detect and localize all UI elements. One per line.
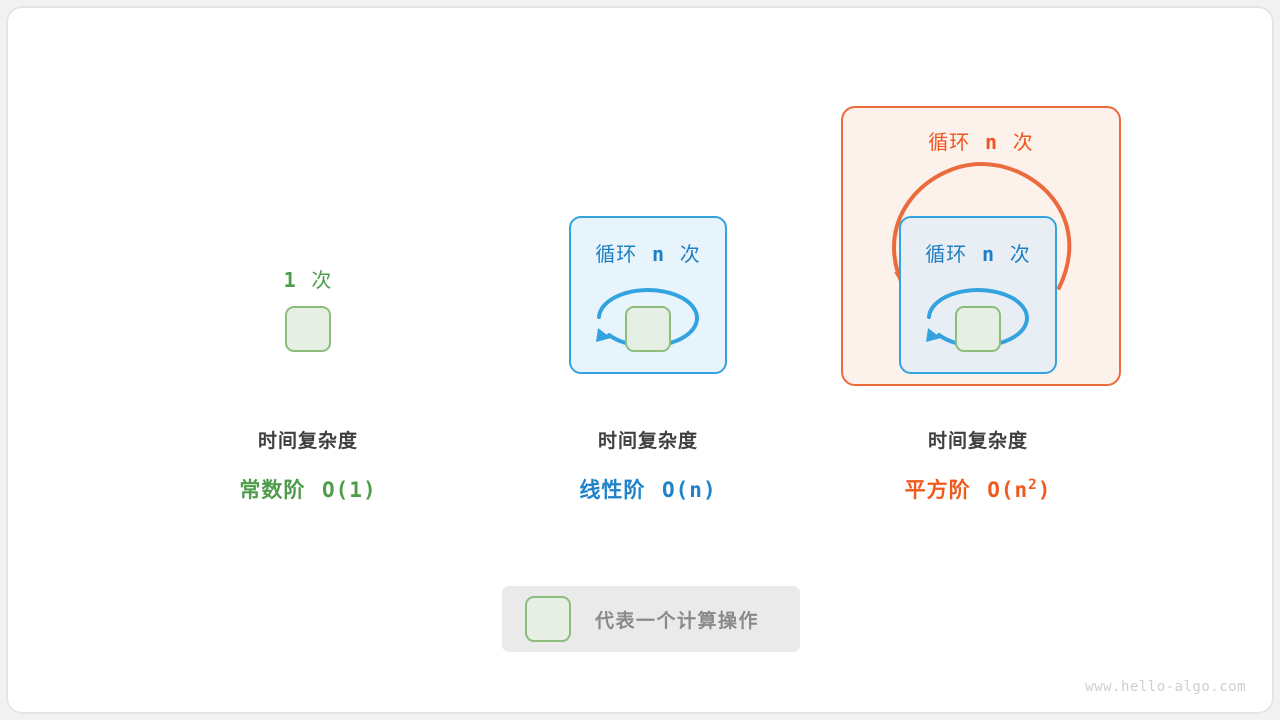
- complexity-column-linear: 循环 n 次 时间复杂度 线性阶 O(n): [518, 98, 778, 398]
- caption-title-quadratic: 时间复杂度: [828, 426, 1128, 453]
- caption-value-constant: 常数阶 O(1): [178, 474, 438, 504]
- legend-op-square-icon: [525, 596, 571, 642]
- loop-label-linear: 循环 n 次: [569, 238, 727, 267]
- operation-box-quadratic: [955, 306, 1001, 352]
- watermark: www.hello-algo.com: [1085, 679, 1246, 695]
- caption-value-linear: 线性阶 O(n): [518, 474, 778, 504]
- inner-loop-label-quadratic: 循环 n 次: [899, 238, 1057, 267]
- complexity-notation-base: O(n: [987, 478, 1028, 502]
- inner-loop-suffix: 次: [1010, 242, 1031, 266]
- quadratic-caption: 时间复杂度 平方阶 O(n2): [828, 426, 1128, 504]
- complexity-name-quadratic: 平方阶: [905, 478, 971, 502]
- quadratic-figure-area: 循环 n 次 循环 n 次: [828, 98, 1128, 398]
- outer-loop-prefix: 循环: [928, 130, 970, 154]
- constant-figure-area: 1 次: [178, 98, 438, 398]
- constant-count-label: 1 次: [178, 264, 438, 293]
- legend: 代表一个计算操作: [502, 586, 800, 652]
- inner-loop-prefix: 循环: [925, 242, 967, 266]
- complexity-notation-exponent: 2: [1028, 477, 1038, 493]
- complexity-notation-linear: O(n): [662, 478, 717, 502]
- loop-prefix-linear: 循环: [595, 242, 637, 266]
- diagram-card: 1 次 时间复杂度 常数阶 O(1) 循环 n 次: [8, 8, 1272, 712]
- complexity-name-constant: 常数阶: [239, 478, 305, 502]
- operation-box-linear: [625, 306, 671, 352]
- complexity-notation-close: ): [1038, 478, 1052, 502]
- legend-label: 代表一个计算操作: [595, 606, 759, 633]
- loop-suffix-linear: 次: [680, 242, 701, 266]
- op-square-icon: [625, 306, 671, 352]
- op-square-icon: [285, 306, 331, 352]
- op-square-icon: [955, 306, 1001, 352]
- linear-caption: 时间复杂度 线性阶 O(n): [518, 426, 778, 504]
- linear-figure-area: 循环 n 次: [518, 98, 778, 398]
- loop-variable-linear: n: [652, 242, 665, 266]
- outer-loop-suffix: 次: [1013, 130, 1034, 154]
- constant-caption: 时间复杂度 常数阶 O(1): [178, 426, 438, 504]
- constant-count-unit: 次: [311, 268, 332, 292]
- caption-value-quadratic: 平方阶 O(n2): [828, 474, 1128, 504]
- outer-loop-label-quadratic: 循环 n 次: [841, 126, 1121, 155]
- operation-box-constant: [285, 306, 331, 352]
- outer-loop-variable: n: [985, 130, 998, 154]
- complexity-column-quadratic: 循环 n 次 循环 n 次: [828, 98, 1128, 398]
- complexity-notation-constant: O(1): [322, 478, 377, 502]
- complexity-name-linear: 线性阶: [579, 478, 645, 502]
- constant-count-number: 1: [284, 268, 297, 292]
- inner-loop-variable: n: [982, 242, 995, 266]
- complexity-column-constant: 1 次 时间复杂度 常数阶 O(1): [178, 98, 438, 398]
- caption-title-linear: 时间复杂度: [518, 426, 778, 453]
- diagram-canvas: 1 次 时间复杂度 常数阶 O(1) 循环 n 次: [0, 0, 1280, 720]
- caption-title-constant: 时间复杂度: [178, 426, 438, 453]
